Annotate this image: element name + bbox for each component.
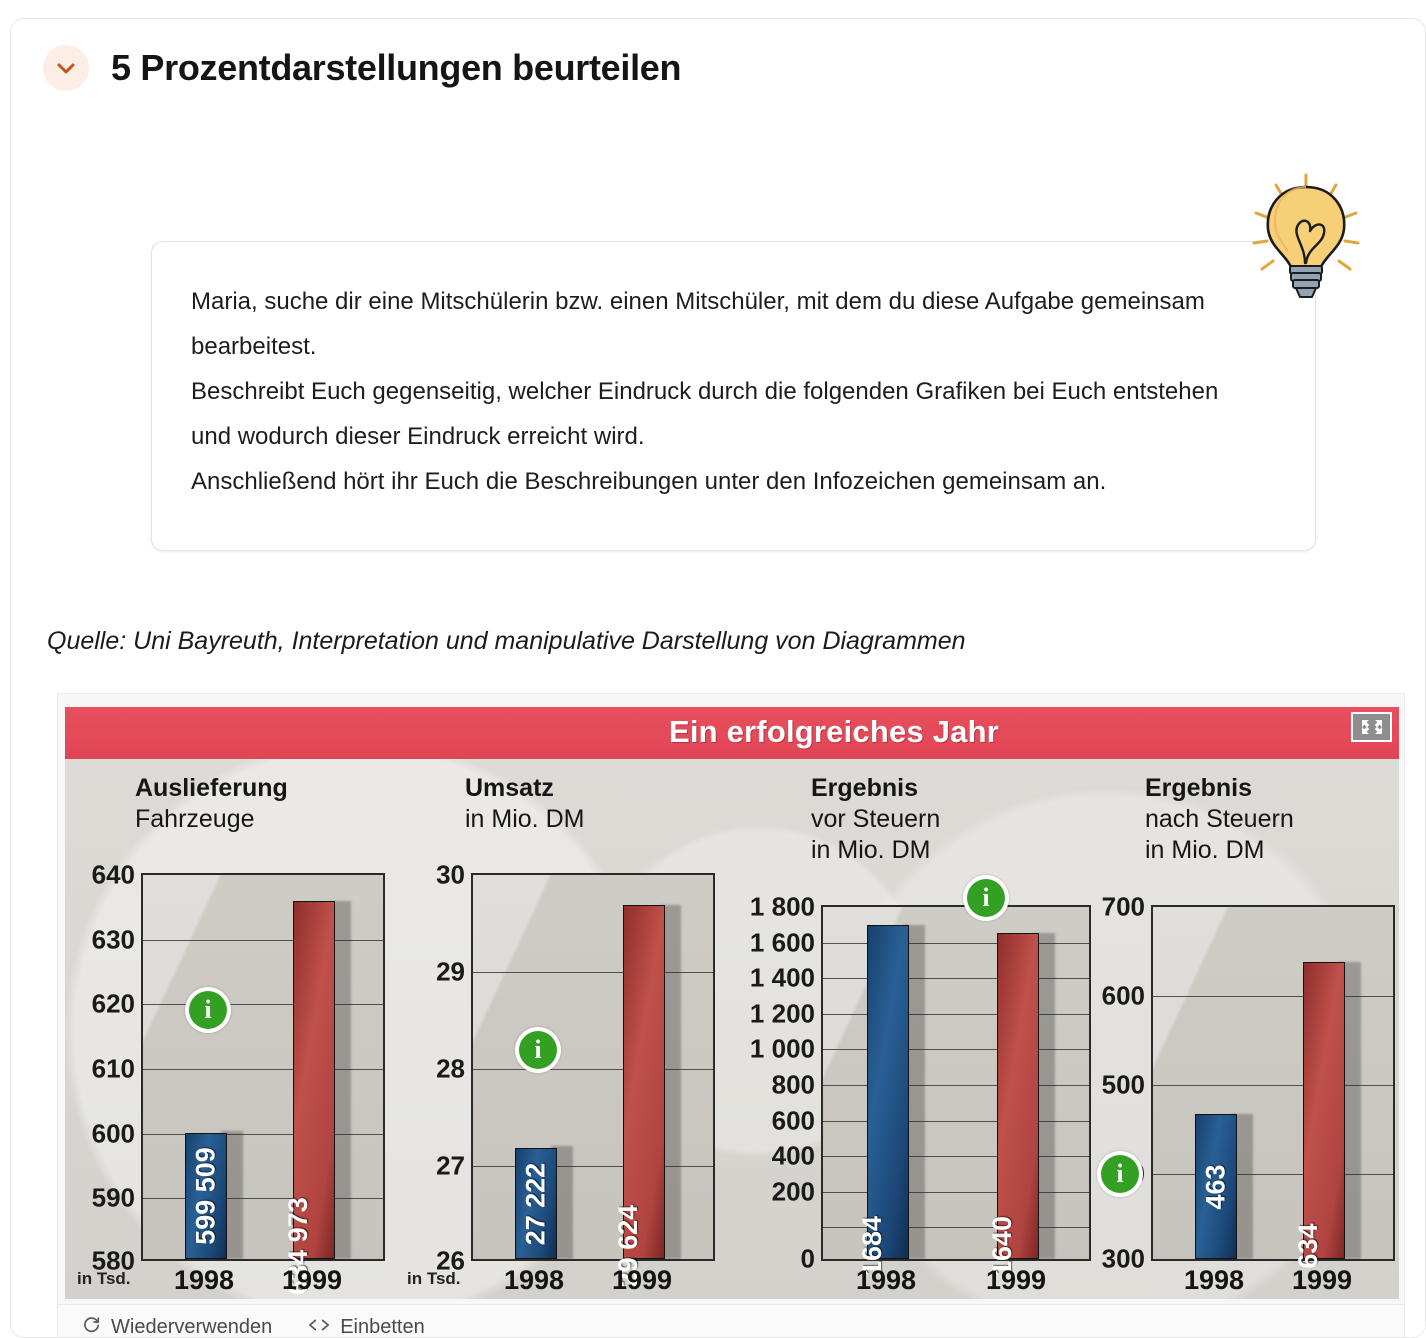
chart-panel-umsatz: Umsatz in Mio. DM 27 222 29 624 <box>403 765 733 1299</box>
info-icon[interactable]: i <box>963 875 1009 921</box>
bar-1999: 634 <box>1303 962 1345 1259</box>
bar-value-label: 27 222 <box>521 1162 552 1245</box>
instruction-line-3: Anschließend hört ihr Euch die Beschreib… <box>191 459 1236 504</box>
chart-title: Umsatz in Mio. DM <box>465 773 584 835</box>
chart-title-main: Auslieferung <box>135 773 288 804</box>
chart-title-sub: Fahrzeuge <box>135 804 288 835</box>
code-brackets-icon <box>308 1317 330 1338</box>
info-icon-glyph: i <box>967 879 1005 917</box>
chart-title: Ergebnis nach Steuern in Mio. DM <box>1145 773 1294 866</box>
y-tick: 800 <box>772 1070 815 1101</box>
y-tick: 200 <box>772 1176 815 1207</box>
bar-1998: 27 222 <box>515 1148 557 1259</box>
y-tick: 610 <box>92 1054 135 1085</box>
chart-panel-ergebnis-nach-steuern: Ergebnis nach Steuern in Mio. DM 463 634 <box>1075 765 1399 1299</box>
lightbulb-icon <box>1246 171 1366 301</box>
chart-title-sub: vor Steuern <box>811 804 940 835</box>
y-tick: 500 <box>1102 1070 1145 1101</box>
x-label-1999: 1999 <box>612 1265 672 1296</box>
fullscreen-expand-icon[interactable] <box>1351 712 1392 742</box>
y-tick: 700 <box>1102 892 1145 923</box>
chart-title-main: Ergebnis <box>811 773 940 804</box>
chart-title-main: Umsatz <box>465 773 584 804</box>
y-tick: 640 <box>92 860 135 891</box>
chart-title-sub2: in Mio. DM <box>811 835 940 866</box>
bar-1999: 1640 <box>997 933 1039 1259</box>
x-label-1999: 1999 <box>282 1265 342 1296</box>
x-label-1999: 1999 <box>1292 1265 1352 1296</box>
bar-1999: 29 624 <box>623 905 665 1259</box>
info-icon[interactable]: i <box>1097 1151 1143 1197</box>
plot-area: 599 509 634 973 <box>141 873 385 1261</box>
instruction-line-1: Maria, suche dir eine Mitschülerin bzw. … <box>191 279 1236 369</box>
axis-unit-note: in Tsd. <box>407 1269 461 1289</box>
y-tick: 30 <box>436 860 465 891</box>
bar-1998: 463 <box>1195 1114 1237 1259</box>
y-tick: 1 800 <box>750 892 815 923</box>
y-tick: 1 600 <box>750 927 815 958</box>
y-tick: 590 <box>92 1183 135 1214</box>
figure-banner-title: Ein erfolgreiches Jahr <box>669 714 999 750</box>
info-icon-glyph: i <box>189 991 227 1029</box>
y-tick: 29 <box>436 957 465 988</box>
chart-title: Ergebnis vor Steuern in Mio. DM <box>811 773 940 866</box>
x-label-1998: 1998 <box>174 1265 234 1296</box>
figure-image: Ein erfolgreiches Jahr Auslieferung Fahr… <box>65 707 1399 1299</box>
info-icon-glyph: i <box>1101 1155 1139 1193</box>
y-tick: 27 <box>436 1151 465 1182</box>
instruction-text: Maria, suche dir eine Mitschülerin bzw. … <box>191 279 1236 504</box>
figure-toolbar: Wiederverwenden Einbetten <box>57 1305 1405 1338</box>
y-tick: 300 <box>1102 1244 1145 1275</box>
y-tick: 600 <box>772 1105 815 1136</box>
bar-value-label: 463 <box>1201 1164 1232 1209</box>
x-label-1998: 1998 <box>856 1265 916 1296</box>
bar-1999: 634 973 <box>293 901 335 1259</box>
chart-title: Auslieferung Fahrzeuge <box>135 773 288 835</box>
bar-1998: 1684 <box>867 925 909 1259</box>
plot-area: 27 222 29 624 <box>471 873 715 1261</box>
reuse-label: Wiederverwenden <box>111 1316 272 1338</box>
chart-title-sub: nach Steuern <box>1145 804 1294 835</box>
chevron-down-icon[interactable] <box>43 45 89 91</box>
y-tick: 0 <box>801 1244 815 1275</box>
y-tick: 1 400 <box>750 963 815 994</box>
bar-value-label: 599 509 <box>191 1147 222 1245</box>
section-header: 5 Prozentdarstellungen beurteilen <box>43 45 681 91</box>
y-tick: 620 <box>92 989 135 1020</box>
x-label-1999: 1999 <box>986 1265 1046 1296</box>
y-tick: 1 000 <box>750 1034 815 1065</box>
bar-1998: 599 509 <box>185 1133 227 1259</box>
embed-label: Einbetten <box>340 1316 425 1338</box>
chart-title-sub: in Mio. DM <box>465 804 584 835</box>
y-tick: 400 <box>772 1141 815 1172</box>
instruction-block: Maria, suche dir eine Mitschülerin bzw. … <box>151 241 1316 551</box>
instruction-line-2: Beschreibt Euch gegenseitig, welcher Ein… <box>191 369 1236 459</box>
y-tick: 600 <box>1102 981 1145 1012</box>
x-label-1998: 1998 <box>504 1265 564 1296</box>
figure-container: Ein erfolgreiches Jahr Auslieferung Fahr… <box>57 693 1405 1305</box>
chart-panel-ergebnis-vor-steuern: Ergebnis vor Steuern in Mio. DM <box>733 765 1093 1299</box>
y-tick: 28 <box>436 1054 465 1085</box>
chart-panel-auslieferung: Auslieferung Fahrzeuge 599 509 634 <box>73 765 403 1299</box>
figure-banner: Ein erfolgreiches Jahr <box>65 707 1399 759</box>
x-label-1998: 1998 <box>1184 1265 1244 1296</box>
y-tick: 630 <box>92 924 135 955</box>
y-tick: 600 <box>92 1118 135 1149</box>
lesson-card: 5 Prozentdarstellungen beurteilen Maria,… <box>10 18 1426 1338</box>
info-icon-glyph: i <box>519 1031 557 1069</box>
info-icon[interactable]: i <box>185 987 231 1033</box>
bar-value-label: 634 <box>1293 1223 1324 1268</box>
chart-title-main: Ergebnis <box>1145 773 1294 804</box>
chart-title-sub2: in Mio. DM <box>1145 835 1294 866</box>
refresh-icon <box>82 1315 101 1338</box>
plot-area: 463 634 <box>1151 905 1395 1261</box>
y-tick: 1 200 <box>750 998 815 1029</box>
reuse-button[interactable]: Wiederverwenden <box>82 1315 272 1338</box>
source-caption: Quelle: Uni Bayreuth, Interpretation und… <box>47 627 966 656</box>
info-icon[interactable]: i <box>515 1027 561 1073</box>
plot-area: 1684 1640 <box>821 905 1091 1261</box>
axis-unit-note: in Tsd. <box>77 1269 131 1289</box>
embed-button[interactable]: Einbetten <box>308 1316 425 1338</box>
page-title: 5 Prozentdarstellungen beurteilen <box>111 47 681 89</box>
